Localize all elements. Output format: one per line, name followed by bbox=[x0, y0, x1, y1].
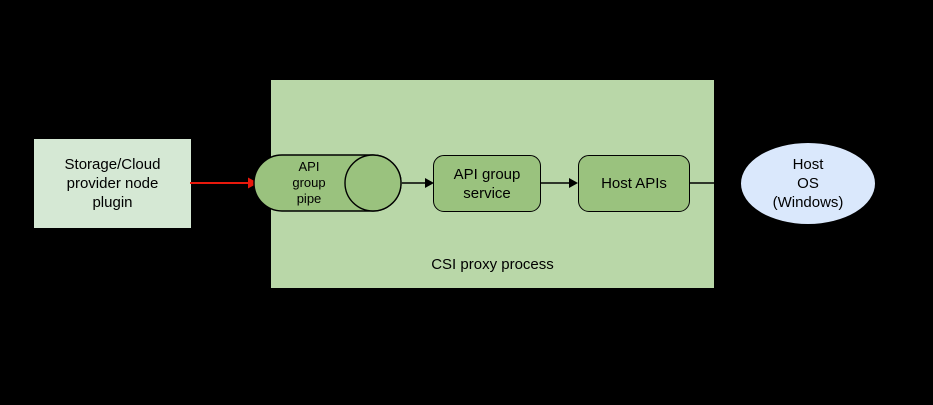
host-os-line-2: OS bbox=[773, 174, 844, 193]
api-group-pipe-shape[interactable]: API group pipe bbox=[253, 154, 402, 212]
host-os-ellipse[interactable]: Host OS (Windows) bbox=[740, 142, 876, 225]
api-group-service-label: API group service bbox=[448, 165, 527, 203]
plugin-box-line-1: Storage/Cloud bbox=[65, 155, 161, 174]
api-group-service-line-1: API group bbox=[454, 165, 521, 184]
api-group-service-line-2: service bbox=[454, 184, 521, 203]
plugin-box-line-3: plugin bbox=[65, 193, 161, 212]
host-os-line-1: Host bbox=[773, 155, 844, 174]
host-os-line-3: (Windows) bbox=[773, 193, 844, 212]
plugin-box-label: Storage/Cloud provider node plugin bbox=[61, 155, 165, 212]
storage-cloud-provider-node-plugin-box[interactable]: Storage/Cloud provider node plugin bbox=[33, 138, 192, 229]
csi-proxy-process-label: CSI proxy process bbox=[271, 256, 714, 274]
edge-plugin-to-pipe bbox=[190, 175, 260, 191]
plugin-box-line-2: provider node bbox=[65, 174, 161, 193]
diagram-canvas: CSI proxy process Storage/Cloud provider… bbox=[0, 0, 933, 405]
host-apis-box[interactable]: Host APIs bbox=[578, 155, 690, 212]
host-apis-label: Host APIs bbox=[595, 174, 673, 193]
api-group-service-box[interactable]: API group service bbox=[433, 155, 541, 212]
host-os-label: Host OS (Windows) bbox=[773, 155, 844, 212]
